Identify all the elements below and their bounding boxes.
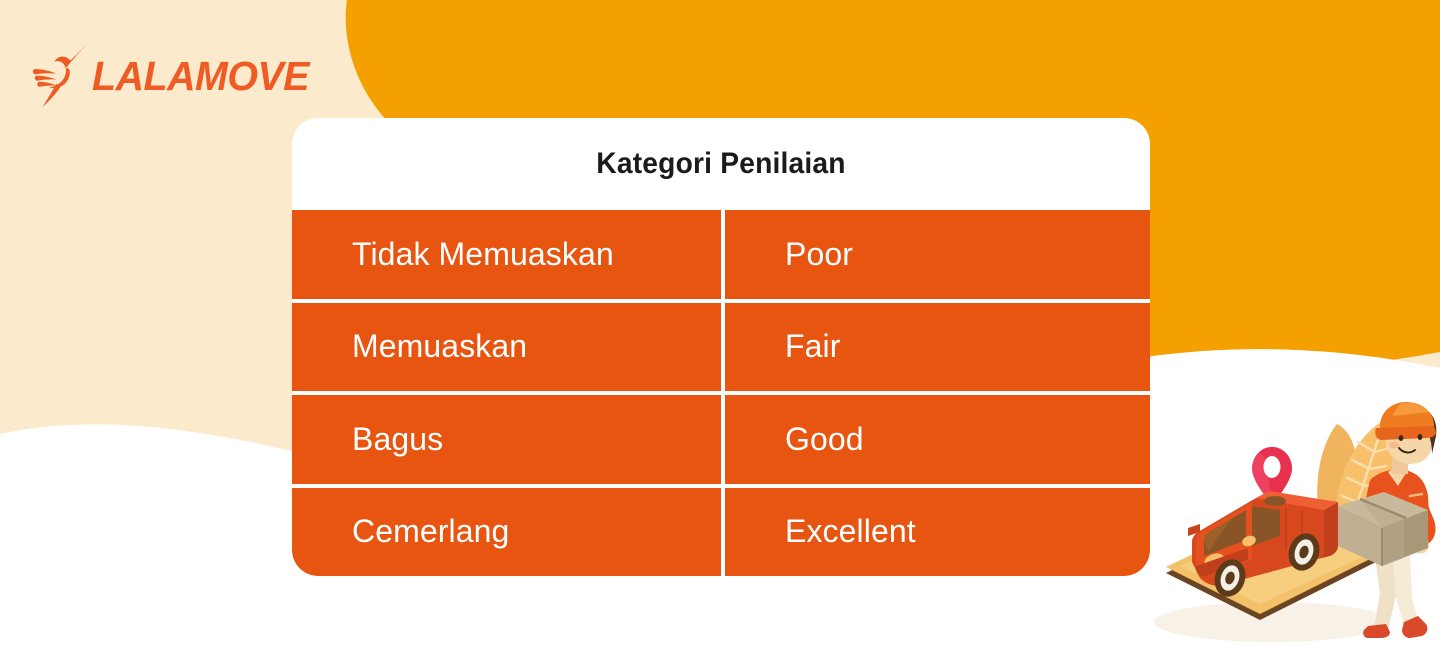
rating-category-card: Kategori Penilaian Tidak Memuaskan Poor … [292, 118, 1150, 576]
page-title: Kategori Penilaian [318, 118, 1125, 210]
rating-table: Tidak Memuaskan Poor Memuaskan Fair Bagu… [292, 210, 1150, 576]
table-row: Tidak Memuaskan Poor [292, 210, 1150, 299]
cell-category-id: Bagus [292, 395, 721, 484]
table-row: Bagus Good [292, 395, 1150, 484]
cell-category-en: Poor [725, 210, 1150, 299]
cell-category-id: Tidak Memuaskan [292, 210, 721, 299]
delivery-courier-illustration [1152, 400, 1440, 652]
cell-category-en: Good [725, 395, 1150, 484]
hummingbird-icon [32, 39, 94, 109]
table-row: Cemerlang Excellent [292, 488, 1150, 577]
table-row: Memuaskan Fair [292, 303, 1150, 392]
cell-category-en: Fair [725, 303, 1150, 392]
cell-category-en: Excellent [725, 488, 1150, 577]
lalamove-logo[interactable]: LALAMOVE [32, 38, 292, 110]
poster-canvas: LALAMOVE Kategori Penilaian Tidak Memuas… [0, 0, 1440, 652]
lalamove-wordmark: LALAMOVE [92, 56, 309, 97]
cell-category-id: Cemerlang [292, 488, 721, 577]
cell-category-id: Memuaskan [292, 303, 721, 392]
